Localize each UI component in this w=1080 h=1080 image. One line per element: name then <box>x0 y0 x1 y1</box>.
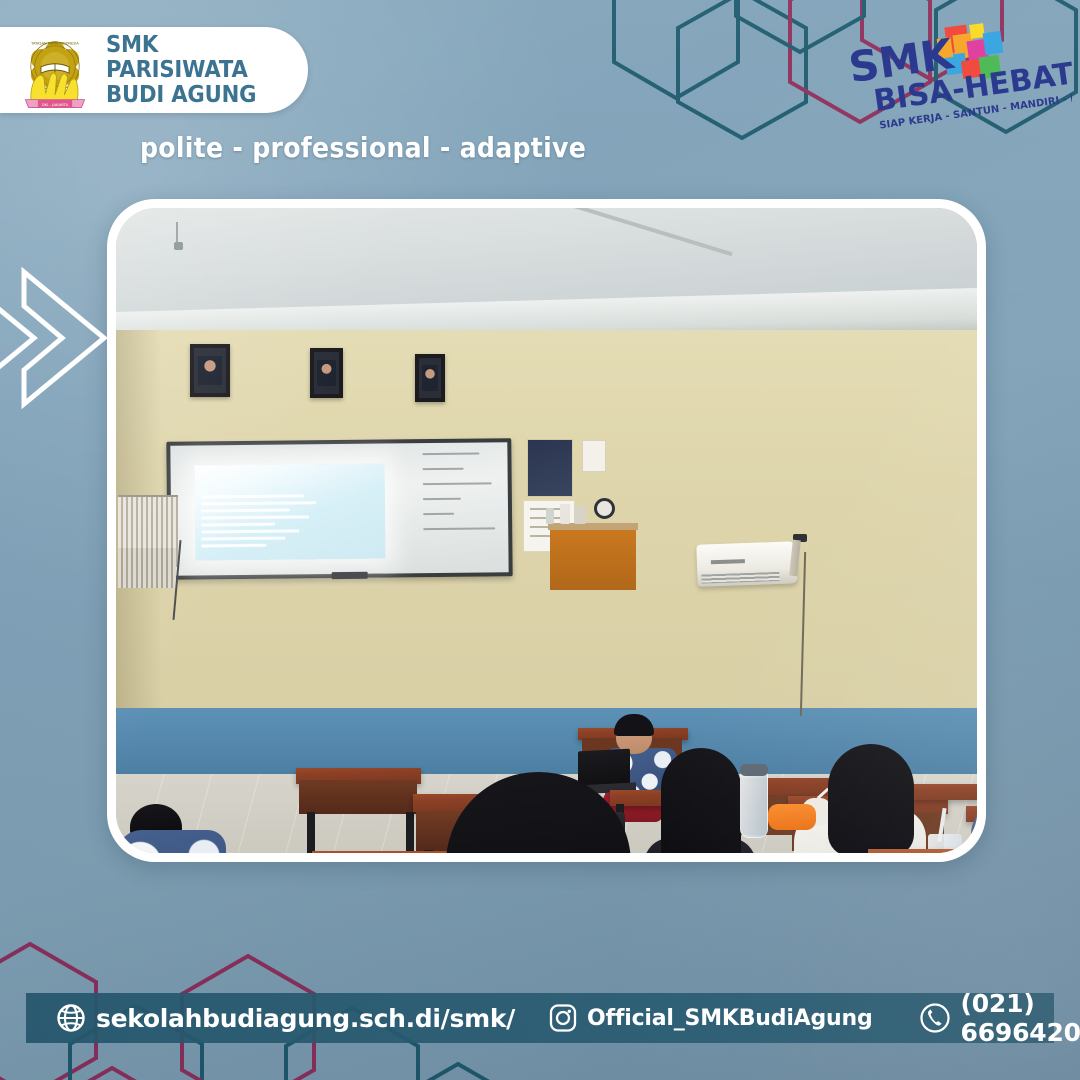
contact-footer-bar: sekolahbudiagung.sch.di/smk/ Official_SM… <box>26 993 1054 1043</box>
globe-icon <box>56 1003 86 1033</box>
classroom-photo <box>116 208 977 853</box>
phone-icon <box>919 1002 951 1034</box>
footer-instagram[interactable]: Official_SMKBudiAgung <box>549 1003 873 1033</box>
poster-canvas: YAYASAN KARYA INDONESIA DKI - JAKARTA SM… <box>0 0 1080 1080</box>
footer-website-text: sekolahbudiagung.sch.di/smk/ <box>96 1004 515 1033</box>
school-name: SMK PARISIWATA BUDI AGUNG <box>106 33 292 108</box>
school-tagline: polite - professional - adaptive <box>140 131 586 164</box>
header-brand-pill: YAYASAN KARYA INDONESIA DKI - JAKARTA SM… <box>0 27 308 113</box>
footer-phone-text: (021) 6696420 <box>961 989 1080 1047</box>
svg-text:DKI - JAKARTA: DKI - JAKARTA <box>42 102 69 107</box>
footer-website[interactable]: sekolahbudiagung.sch.di/smk/ <box>56 1003 515 1033</box>
footer-phone[interactable]: (021) 6696420 <box>919 989 1080 1047</box>
photo-glare <box>116 208 977 853</box>
smk-bisa-hebat-logo: SMK BISA-HEBAT SIAP KERJA - SANTUN - MAN… <box>828 8 1072 134</box>
footer-instagram-text: Official_SMKBudiAgung <box>587 1006 873 1031</box>
school-logo-icon: YAYASAN KARYA INDONESIA DKI - JAKARTA <box>16 31 94 109</box>
photo-frame <box>107 199 986 862</box>
double-chevron-right-icon <box>0 258 144 418</box>
svg-text:YAYASAN KARYA INDONESIA: YAYASAN KARYA INDONESIA <box>31 41 79 45</box>
instagram-icon <box>549 1003 577 1033</box>
